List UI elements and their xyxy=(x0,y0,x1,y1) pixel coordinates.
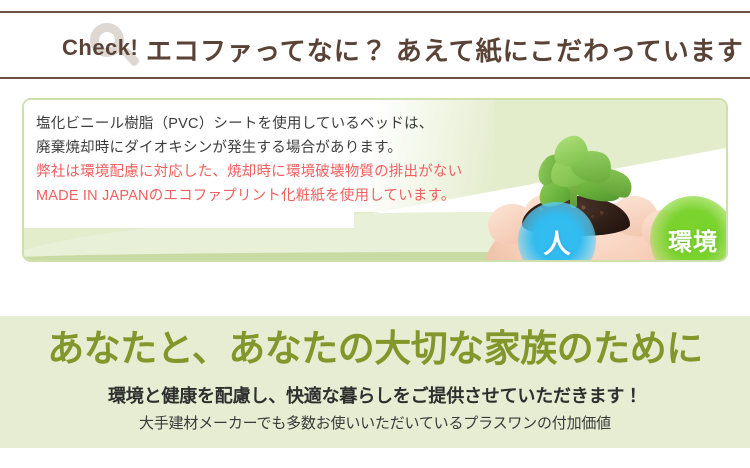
closing-subheading: 環境と健康を配慮し、快適な暮らしをご提供させていただきます！ xyxy=(0,382,750,408)
body-line-2: 廃棄焼却時にダイオキシンが発生する場合があります。 xyxy=(36,136,462,160)
badge-person-label: 人 xyxy=(544,222,571,261)
badge-environment-label: 環境 xyxy=(668,222,718,257)
body-line-3: 弊社は環境配慮に対応した、焼却時に環境破壊物質の排出がない xyxy=(36,160,462,184)
header-inner: Check! エコファってなに？ あえて紙にこだわっています！ xyxy=(0,13,750,77)
section-header: Check! エコファってなに？ あえて紙にこだわっています！ xyxy=(0,11,750,79)
closing-heading: あなたと、あなたの大切な家族のために xyxy=(0,330,750,367)
body-line-4: MADE IN JAPANのエコファプリント化粧紙を使用しています。 xyxy=(36,184,462,208)
card-body-text: 塩化ビニール樹脂（PVC）シートを使用しているベッドは、 廃棄焼却時にダイオキシ… xyxy=(36,112,462,208)
closing-note: 大手建材メーカーでも多数お使いいただいているプラスワンの付加価値 xyxy=(0,412,750,433)
check-label: Check! xyxy=(62,35,138,61)
body-line-1: 塩化ビニール樹脂（PVC）シートを使用しているベッドは、 xyxy=(36,112,462,136)
section-closing-panel: あなたと、あなたの大切な家族のために 環境と健康を配慮し、快適な暮らしをご提供さ… xyxy=(0,316,750,448)
promo-page: Check! エコファってなに？ あえて紙にこだわっています！ xyxy=(0,0,750,468)
page-title: エコファってなに？ あえて紙にこだわっています！ xyxy=(146,31,750,68)
